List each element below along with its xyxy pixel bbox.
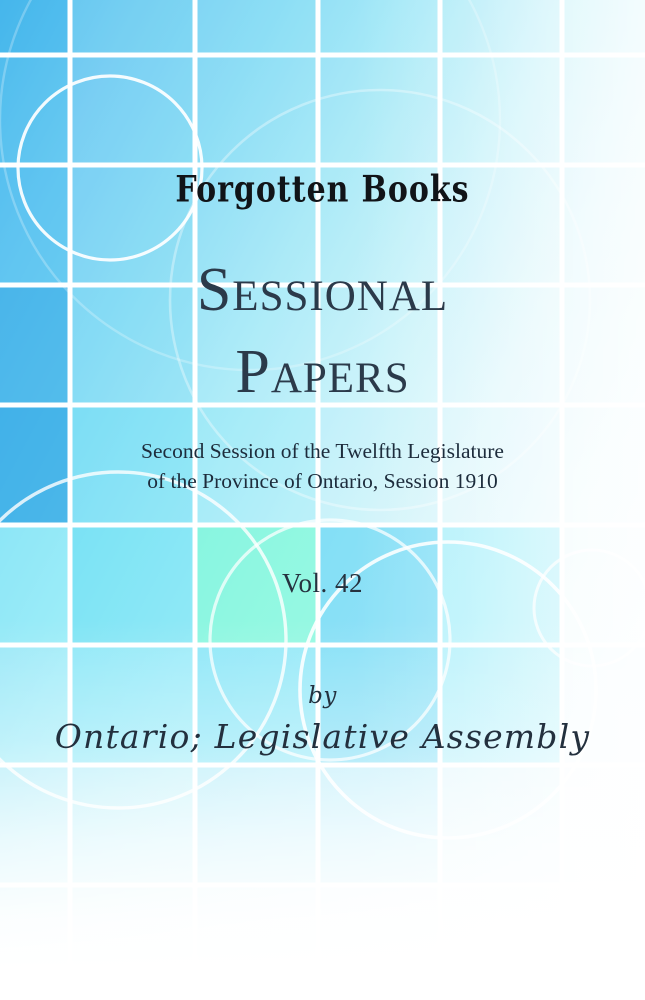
book-title-line-1: Sessional	[0, 250, 645, 332]
book-byline: by Ontario; Legislative Assembly	[0, 684, 645, 756]
book-subtitle-line-1: Second Session of the Twelfth Legislatur…	[60, 437, 585, 467]
book-volume: Vol. 42	[0, 568, 645, 599]
publisher-logo: ForgottenBooks	[0, 172, 645, 209]
book-title: Sessional Papers	[0, 250, 645, 414]
publisher-logo-word-1: Forgotten	[175, 168, 349, 211]
cover-content: ForgottenBooks Sessional Papers Second S…	[0, 0, 645, 1000]
book-subtitle: Second Session of the Twelfth Legislatur…	[60, 437, 585, 496]
book-title-line-2: Papers	[0, 332, 645, 414]
publisher-logo-word-2: Books	[362, 168, 470, 211]
byline-preposition: by	[0, 684, 645, 709]
book-subtitle-line-2: of the Province of Ontario, Session 1910	[60, 467, 585, 497]
book-cover: ForgottenBooks Sessional Papers Second S…	[0, 0, 645, 1000]
book-author: Ontario; Legislative Assembly	[0, 719, 645, 755]
